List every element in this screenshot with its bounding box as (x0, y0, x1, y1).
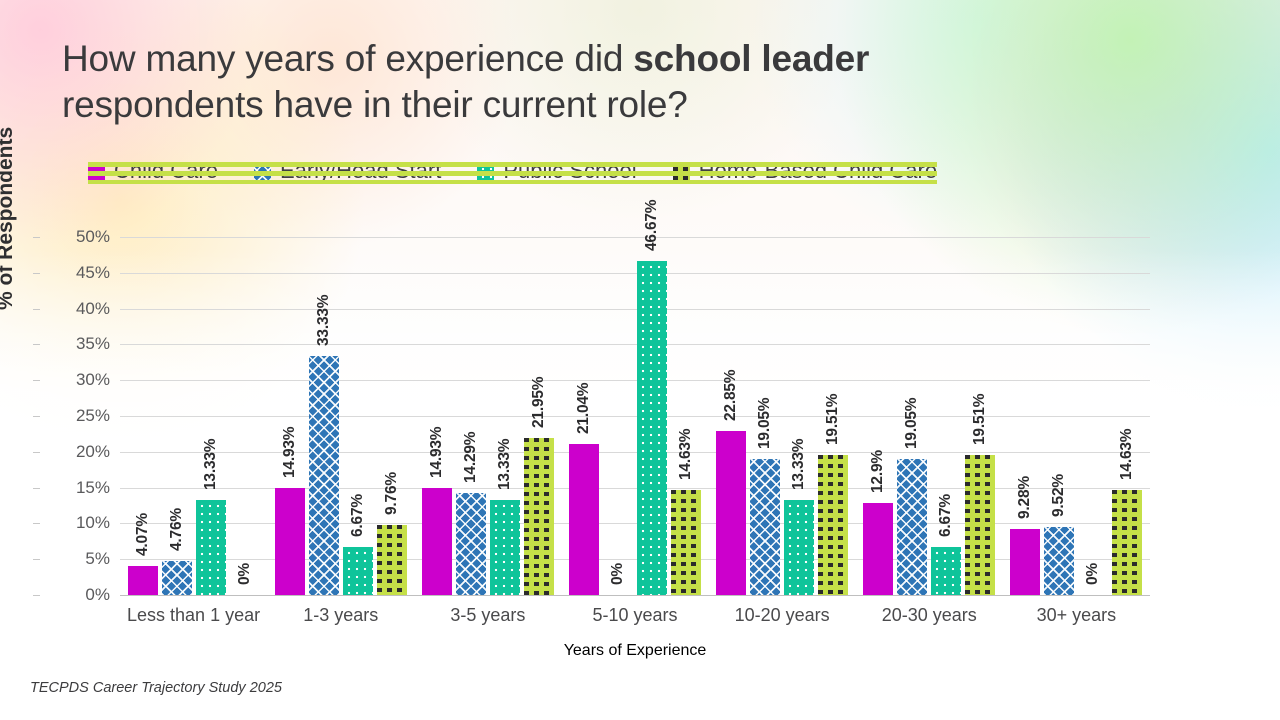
bar-slot: 19.51% (818, 237, 848, 595)
bar-value-label: 14.63% (1118, 429, 1136, 480)
bar-group-bars: 21.04%0%46.67%14.63% (561, 237, 708, 595)
x-axis-tick-label: 10-20 years (709, 605, 856, 626)
bar[interactable] (456, 493, 486, 595)
bar-group: 14.93%14.29%13.33%21.95%3-5 years (414, 237, 561, 595)
bar-group-bars: 22.85%19.05%13.33%19.51% (709, 237, 856, 595)
y-axis-tick-mark (33, 344, 40, 345)
bar-slot: 19.05% (750, 237, 780, 595)
bar-value-label: 4.76% (168, 508, 186, 551)
footnote: TECPDS Career Trajectory Study 2025 (30, 680, 282, 696)
bar-slot: 9.28% (1010, 237, 1040, 595)
bar[interactable] (1112, 490, 1142, 595)
bar[interactable] (196, 500, 226, 595)
x-axis-title: Years of Experience (564, 642, 707, 659)
bar-slot: 13.33% (196, 237, 226, 595)
bar[interactable] (931, 547, 961, 595)
y-axis-tick-label: 50% (40, 227, 110, 247)
bar-value-label: 6.67% (937, 494, 955, 537)
bar-group: 4.07%4.76%13.33%0%Less than 1 year (120, 237, 267, 595)
bar[interactable] (162, 561, 192, 595)
bar-slot: 46.67% (637, 237, 667, 595)
y-axis-tick-label: 20% (40, 442, 110, 462)
bar-value-label: 9.76% (383, 472, 401, 515)
bar-group: 21.04%0%46.67%14.63%5-10 years (561, 237, 708, 595)
bar-slot: 14.93% (275, 237, 305, 595)
bar-value-label: 13.33% (496, 438, 514, 489)
y-axis-tick-label: 35% (40, 334, 110, 354)
title-part-2: respondents have in their current role? (62, 84, 688, 125)
bar[interactable] (275, 488, 305, 595)
bar-group: 12.9%19.05%6.67%19.51%20-30 years (856, 237, 1003, 595)
bar[interactable] (377, 525, 407, 595)
bar-slot: 21.95% (524, 237, 554, 595)
bar-slot: 6.67% (343, 237, 373, 595)
bar-group-bars: 14.93%14.29%13.33%21.95% (414, 237, 561, 595)
y-axis-tick-label: 10% (40, 513, 110, 533)
y-axis-tick-label: 0% (40, 585, 110, 605)
chart-legend: Child CareEarly/Head StartPublic SchoolH… (88, 158, 937, 184)
plot-area: 50%45%40%35%30%25%20%15%10%5%0% 4.07%4.7… (120, 237, 1150, 595)
bar-group: 14.93%33.33%6.67%9.76%1-3 years (267, 237, 414, 595)
bar-value-label: 19.05% (903, 397, 921, 448)
bar-value-label: 0% (236, 563, 254, 585)
x-axis-tick-label: Less than 1 year (120, 605, 267, 626)
bar[interactable] (818, 455, 848, 595)
bar-slot: 0% (230, 237, 260, 595)
bar-slot: 0% (1078, 237, 1108, 595)
x-axis-tick-label: 20-30 years (856, 605, 1003, 626)
bar-value-label: 6.67% (349, 494, 367, 537)
bar-slot: 14.63% (1112, 237, 1142, 595)
bar[interactable] (1044, 527, 1074, 595)
bar[interactable] (422, 488, 452, 595)
bar-group: 9.28%9.52%0%14.63%30+ years (1003, 237, 1150, 595)
bar[interactable] (671, 490, 701, 595)
bar-slot: 33.33% (309, 237, 339, 595)
bar-slot: 14.29% (456, 237, 486, 595)
bar-value-label: 9.52% (1050, 474, 1068, 517)
gridline (120, 595, 1150, 596)
bar[interactable] (897, 459, 927, 595)
legend-swatch-icon (673, 163, 690, 180)
bar-slot: 19.05% (897, 237, 927, 595)
bar-value-label: 19.51% (971, 394, 989, 445)
bar-value-label: 19.51% (824, 394, 842, 445)
bar-value-label: 9.28% (1016, 476, 1034, 519)
bar-group-bars: 9.28%9.52%0%14.63% (1003, 237, 1150, 595)
bar-slot: 13.33% (784, 237, 814, 595)
y-axis-tick-mark (33, 237, 40, 238)
bar[interactable] (750, 459, 780, 595)
bar-slot: 13.33% (490, 237, 520, 595)
bar-groups: 4.07%4.76%13.33%0%Less than 1 year14.93%… (120, 237, 1150, 595)
bar[interactable] (343, 547, 373, 595)
x-axis-title-wrap: Years of Experience (120, 642, 1150, 660)
bar-slot: 0% (603, 237, 633, 595)
y-axis-tick-label: 45% (40, 263, 110, 283)
bar[interactable] (128, 566, 158, 595)
legend-item-home-based-child-care[interactable]: Home-Based Child Care (673, 158, 937, 184)
y-axis-tick-label: 5% (40, 549, 110, 569)
bar-value-label: 12.9% (869, 450, 887, 493)
y-axis-tick-label: 40% (40, 299, 110, 319)
bar[interactable] (524, 438, 554, 595)
bar-group: 22.85%19.05%13.33%19.51%10-20 years (709, 237, 856, 595)
y-axis-tick-label: 25% (40, 406, 110, 426)
x-axis-tick-label: 3-5 years (414, 605, 561, 626)
bar[interactable] (784, 500, 814, 595)
bar-slot: 14.93% (422, 237, 452, 595)
y-axis-tick-label: 15% (40, 478, 110, 498)
title-emphasis: school leader (633, 38, 869, 79)
bar-slot: 4.07% (128, 237, 158, 595)
bar-value-label: 22.85% (722, 370, 740, 421)
bar-slot: 21.04% (569, 237, 599, 595)
bar-slot: 6.67% (931, 237, 961, 595)
bar-slot: 4.76% (162, 237, 192, 595)
bar-value-label: 14.29% (462, 431, 480, 482)
bar-value-label: 0% (609, 563, 627, 585)
y-axis-tick-mark (33, 488, 40, 489)
y-axis-tick-mark (33, 523, 40, 524)
bar-value-label: 14.93% (428, 427, 446, 478)
bar-group-bars: 14.93%33.33%6.67%9.76% (267, 237, 414, 595)
bar[interactable] (309, 356, 339, 595)
bar-value-label: 19.05% (756, 397, 774, 448)
bar-slot: 14.63% (671, 237, 701, 595)
y-axis-tick-mark (33, 416, 40, 417)
bar-slot: 9.76% (377, 237, 407, 595)
page-title: How many years of experience did school … (62, 36, 1132, 128)
bar[interactable] (1010, 529, 1040, 595)
bar-slot: 9.52% (1044, 237, 1074, 595)
bar-slot: 22.85% (716, 237, 746, 595)
x-axis-tick-label: 5-10 years (561, 605, 708, 626)
bar-value-label: 4.07% (134, 513, 152, 556)
bar-value-label: 46.67% (643, 199, 661, 250)
bar-value-label: 21.95% (530, 376, 548, 427)
bar-group-bars: 12.9%19.05%6.67%19.51% (856, 237, 1003, 595)
y-axis-tick-mark (33, 309, 40, 310)
y-axis-tick-mark (33, 452, 40, 453)
y-axis-tick-label: 30% (40, 370, 110, 390)
bar[interactable] (863, 503, 893, 595)
bar-value-label: 14.63% (677, 429, 695, 480)
y-axis-title: % of Respondents (0, 127, 18, 310)
y-axis-tick-mark (33, 559, 40, 560)
bar-value-label: 0% (1084, 563, 1102, 585)
bar[interactable] (637, 261, 667, 595)
bar[interactable] (490, 500, 520, 595)
bar-value-label: 21.04% (575, 383, 593, 434)
bar-group-bars: 4.07%4.76%13.33%0% (120, 237, 267, 595)
title-part-1: How many years of experience did (62, 38, 633, 79)
y-axis-tick-mark (33, 595, 40, 596)
x-axis-tick-label: 30+ years (1003, 605, 1150, 626)
bar-value-label: 14.93% (281, 427, 299, 478)
bar-slot: 19.51% (965, 237, 995, 595)
bar-value-label: 33.33% (315, 295, 333, 346)
y-axis-tick-mark (33, 380, 40, 381)
bar[interactable] (716, 431, 746, 595)
bar[interactable] (569, 444, 599, 595)
bar[interactable] (965, 455, 995, 595)
y-axis-tick-mark (33, 273, 40, 274)
bar-slot: 12.9% (863, 237, 893, 595)
bar-value-label: 13.33% (202, 438, 220, 489)
bar-value-label: 13.33% (790, 438, 808, 489)
x-axis-tick-label: 1-3 years (267, 605, 414, 626)
